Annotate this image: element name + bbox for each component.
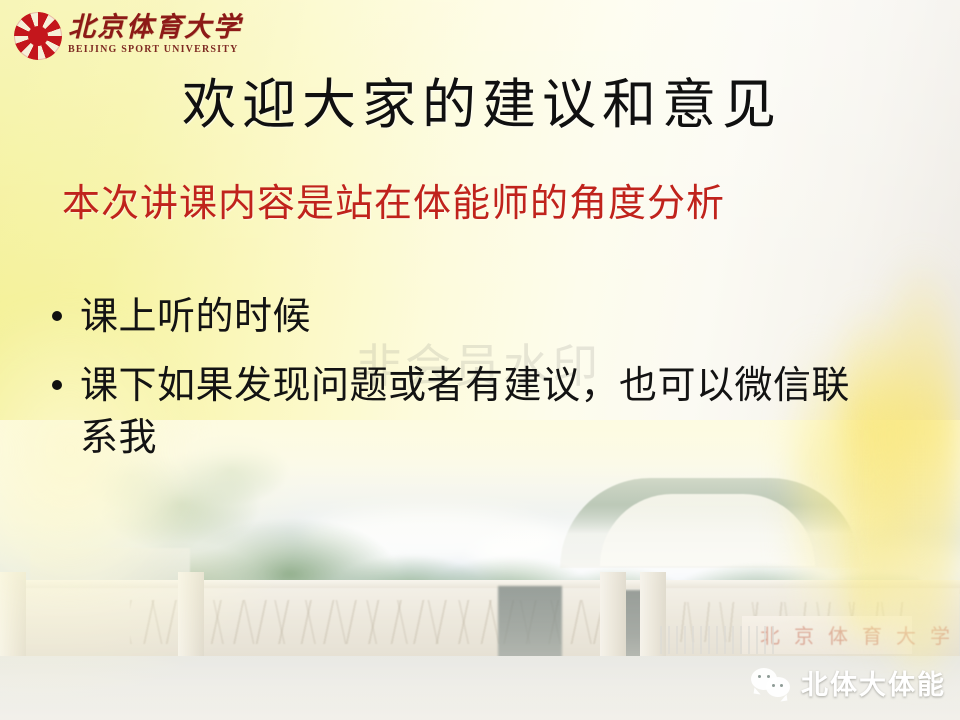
bullet-text: 课下如果发现问题或者有建议，也可以微信联系我 — [80, 361, 882, 464]
bullet-list: 课上听的时候 课下如果发现问题或者有建议，也可以微信联系我 — [52, 292, 882, 482]
university-name-english: BEIJING SPORT UNIVERSITY — [68, 44, 242, 55]
wechat-eye-dot — [772, 684, 775, 687]
slide-headline: 本次讲课内容是站在体能师的角度分析 — [62, 172, 725, 227]
bullet-dot-icon — [52, 311, 62, 321]
university-name-chinese: 北京体育大学 — [68, 14, 242, 41]
slide-title: 欢迎大家的建议和意见 — [182, 60, 782, 139]
presentation-slide: 北京体育大学 北京体育大学 BEIJING SPORT UNIVERSITY 欢… — [0, 0, 960, 720]
bullet-dot-icon — [52, 380, 62, 390]
wechat-eye-dot — [767, 675, 770, 678]
swirl-emblem-icon — [14, 12, 62, 60]
wechat-bubble-small — [766, 677, 790, 697]
wechat-eye-dot — [780, 684, 783, 687]
university-logo-text: 北京体育大学 BEIJING SPORT UNIVERSITY — [68, 10, 242, 55]
wechat-account-badge: 北体大体能 — [751, 663, 946, 702]
swirl-emblem-ring — [14, 12, 62, 60]
university-logo: 北京体育大学 BEIJING SPORT UNIVERSITY — [14, 10, 242, 60]
wechat-account-name: 北体大体能 — [801, 663, 946, 702]
list-item: 课上听的时候 — [52, 292, 882, 343]
wechat-icon — [751, 668, 791, 698]
wechat-eye-dot — [758, 675, 761, 678]
bullet-text: 课上听的时候 — [80, 292, 311, 343]
list-item: 课下如果发现问题或者有建议，也可以微信联系我 — [52, 361, 882, 464]
